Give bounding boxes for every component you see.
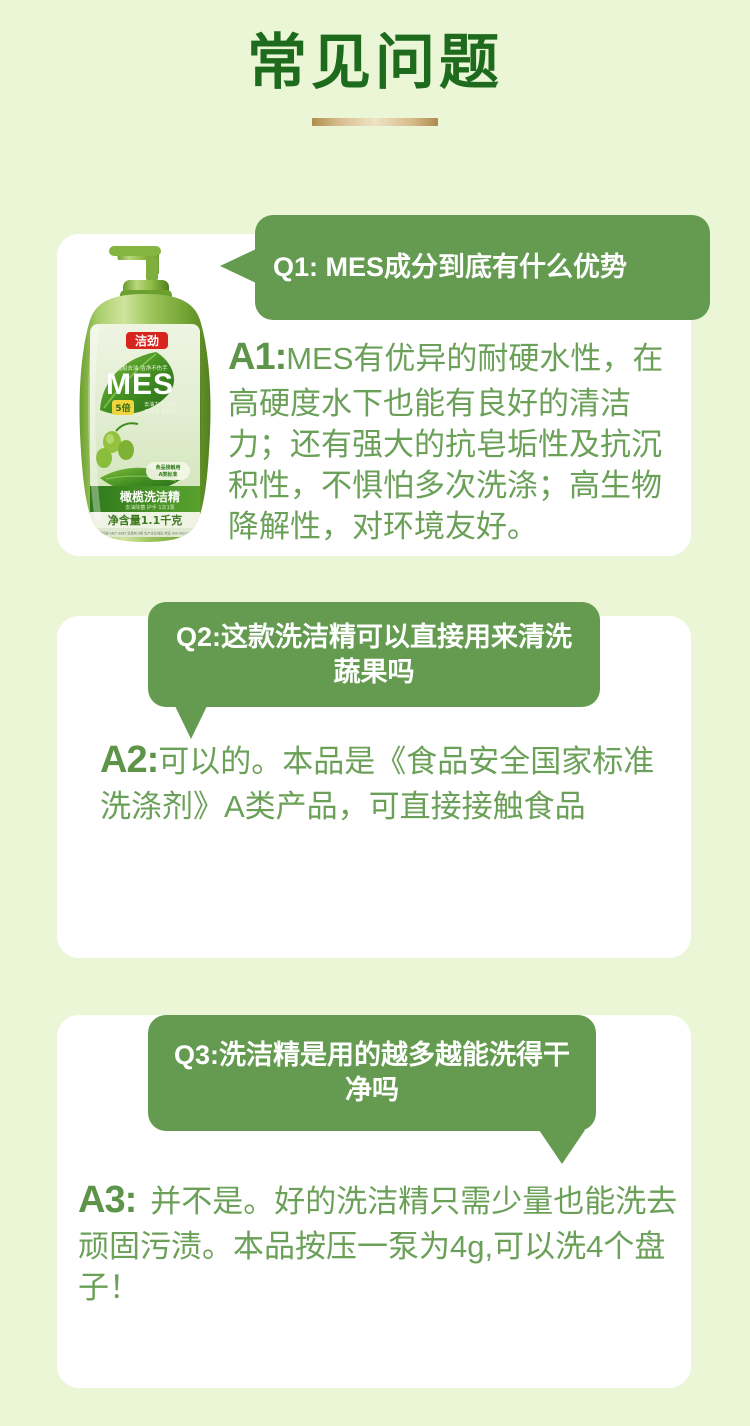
faq-answer-2: A2:可以的。本品是《食品安全国家标准 洗涤剂》A类产品，可直接接触食品 [100, 735, 670, 827]
faq-answer-label-1: A1: [228, 336, 286, 378]
faq-question-text-2: Q2:这款洗洁精可以直接用来清洗蔬果吗 [164, 620, 584, 689]
faq-question-text-1: Q1: MES成分到底有什么优势 [273, 250, 690, 285]
svg-text:不残留 温和型: 不残留 温和型 [144, 408, 176, 415]
faq-question-bubble-3[interactable]: Q3:洗洁精是用的越多越能洗得干净吗 [148, 1015, 596, 1131]
page-title: 常见问题 [0, 0, 750, 93]
faq-answer-label-3: A3: [78, 1179, 150, 1221]
page-header: 常见问题 [0, 0, 750, 180]
faq-answer-text-3: 并不是。好的洗洁精只需少量也能洗去顽固污渍。本品按压一泵为4g,可以洗4个盘子！ [78, 1184, 677, 1305]
svg-text:MES: MES [106, 368, 174, 401]
svg-text:5倍: 5倍 [115, 402, 130, 414]
svg-text:洁劲: 洁劲 [135, 333, 159, 348]
faq-answer-3: A3:并不是。好的洗洁精只需少量也能洗去顽固污渍。本品按压一泵为4g,可以洗4个… [78, 1175, 678, 1308]
svg-text:A类标准: A类标准 [159, 471, 178, 478]
bubble-tail-down-icon [175, 706, 207, 739]
product-bottle-image: 洁劲 温和去油 洁净不伤手 MES 5倍 去油力 易漂洗 不残留 温和型 [60, 228, 230, 553]
svg-text:橄榄洗洁精: 橄榄洗洁精 [120, 489, 180, 504]
title-divider [312, 118, 438, 126]
faq-answer-text-2: 可以的。本品是《食品安全国家标准 洗涤剂》A类产品，可直接接触食品 [100, 744, 654, 824]
svg-text:去油力 易漂洗: 去油力 易漂洗 [144, 401, 176, 408]
faq-answer-text-1: MES有优异的耐硬水性，在高硬度水下也能有良好的清洁力；还有强大的抗皂垢性及抗沉… [228, 341, 663, 544]
faq-question-text-3: Q3:洗洁精是用的越多越能洗得干净吗 [164, 1038, 580, 1107]
faq-question-bubble-2[interactable]: Q2:这款洗洁精可以直接用来清洗蔬果吗 [148, 602, 600, 707]
bubble-tail-down-icon [539, 1130, 585, 1164]
svg-text:食品接触用: 食品接触用 [155, 464, 180, 471]
bubble-tail-left-icon [220, 249, 256, 283]
faq-answer-1: A1:MES有优异的耐硬水性，在高硬度水下也能有良好的清洁力；还有强大的抗皂垢性… [228, 332, 683, 547]
faq-answer-label-2: A2: [100, 739, 158, 781]
svg-text:去油除菌 护手 1次1泵: 去油除菌 护手 1次1泵 [125, 504, 175, 511]
svg-text:净含量1.1千克: 净含量1.1千克 [108, 513, 183, 527]
svg-text:执行标准 GB/T 9985 洗涤剂 A类 生产企业地址: 执行标准 GB/T 9985 洗涤剂 A类 生产企业地址 电话 400-000-… [96, 531, 195, 536]
faq-question-bubble-1[interactable]: Q1: MES成分到底有什么优势 [255, 215, 710, 320]
